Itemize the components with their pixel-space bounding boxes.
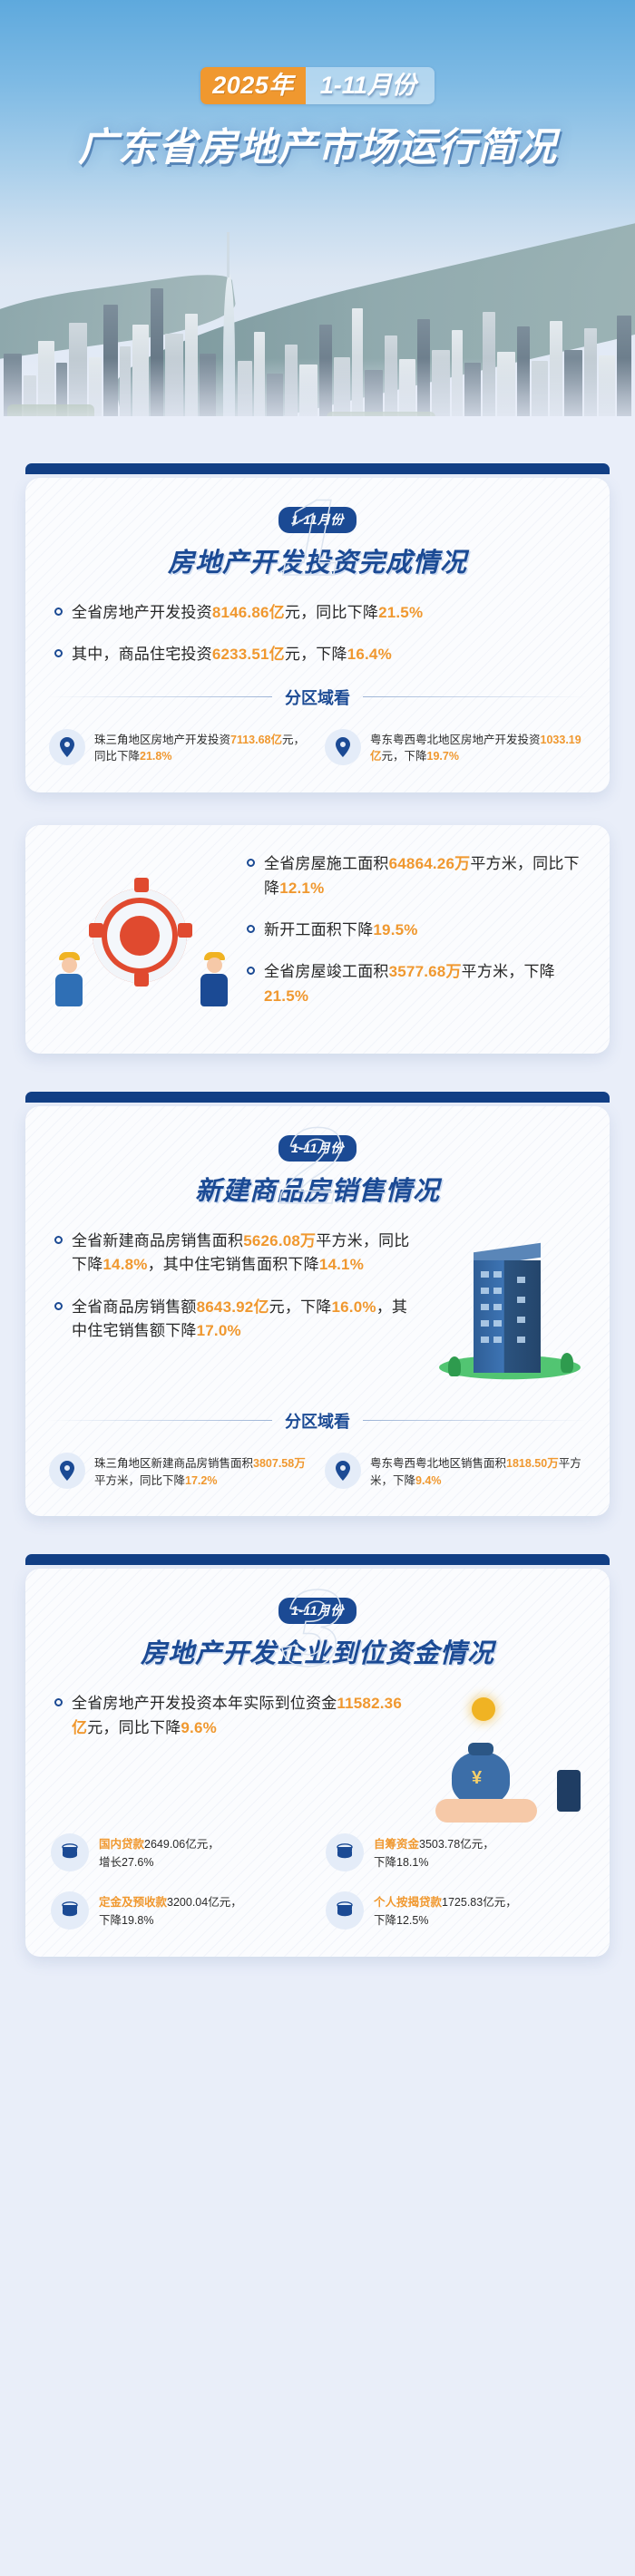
bullet-dot-icon [54,1302,63,1310]
bullet-item: 全省新建商品房销售面积5626.08万平方米，同比下降14.8%，其中住宅销售面… [53,1230,419,1278]
bullet-list-investment: 全省房地产开发投资8146.86亿元，同比下降21.5% 其中，商品住宅投资62… [47,601,588,667]
gear-icon [93,889,187,983]
fund-source-list: 国内贷款2649.06亿元，增长27.6% 自筹资金3503.78亿元，下降18… [47,1828,588,1930]
bullet-text: 全省房屋施工面积64864.26万平方米，同比下降12.1% [264,852,584,900]
fund-item: 国内贷款2649.06亿元，增长27.6% [51,1833,309,1871]
location-pin-icon [49,729,85,765]
region-item: 珠三角地区房地产开发投资7113.68亿元，同比下降21.8% [49,729,310,766]
fund-text: 国内贷款2649.06亿元，增长27.6% [99,1833,220,1871]
hero-banner: 2025年 1-11月份 广东省房地产市场运行简况 [0,0,635,458]
location-pin-icon [325,1453,361,1489]
page-title: 广东省房地产市场运行简况 [0,116,635,172]
bullet-dot-icon [54,649,63,657]
hero-period-tag: 1-11月份 [306,67,435,104]
coins-icon [326,1833,364,1871]
region-list-sales: 珠三角地区新建商品房销售面积3807.58万平方米，同比下降17.2% 粤东粤西… [47,1449,588,1490]
coins-icon [326,1891,364,1930]
bullet-list-funding: 全省房地产开发投资本年实际到位资金11582.36亿元，同比下降9.6% [47,1692,415,1758]
bullet-dot-icon [247,859,255,867]
bullet-item: 全省房屋施工面积64864.26万平方米，同比下降12.1% [245,852,584,900]
bullet-list-sales: 全省新建商品房销售面积5626.08万平方米，同比下降14.8%，其中住宅销售面… [47,1230,425,1361]
section-title-investment: 房地产开发投资完成情况 [47,541,588,579]
fund-change: 下降19.8% [99,1914,153,1927]
location-pin-icon [325,729,361,765]
fund-name: 自筹资金 [374,1838,419,1851]
lightbulb-icon [472,1697,495,1721]
card-sales: 2 1-11月份 新建商品房销售情况 全省新建商品房销售面积5626.08万平方… [25,1106,610,1517]
region-text: 粤东粤西粤北地区销售面积1818.50万平方米，下降9.4% [370,1453,586,1490]
card-construction: 全省房屋施工面积64864.26万平方米，同比下降12.1% 新开工面积下降19… [25,825,610,1054]
worker-figure-icon [194,952,234,1006]
card-topbar-investment [25,463,610,474]
bullet-text: 全省房屋竣工面积3577.68万平方米，下降21.5% [264,960,584,1008]
region-text: 珠三角地区房地产开发投资7113.68亿元，同比下降21.8% [94,729,310,766]
bullet-dot-icon [54,1236,63,1244]
region-item: 粤东粤西粤北地区房地产开发投资1033.19亿元，下降19.7% [325,729,586,766]
tree-icon [448,1356,461,1376]
hero-year-tag: 2025年 [200,67,306,104]
section-title-sales: 新建商品房销售情况 [47,1170,588,1208]
building-icon [474,1260,541,1373]
construction-illustration [45,858,236,1021]
bullet-item: 全省房地产开发投资本年实际到位资金11582.36亿元，同比下降9.6% [53,1692,410,1740]
section-pill-funding: 1-11月份 [278,1598,357,1624]
divider-line-right [363,1420,588,1421]
region-divider-label: 分区域看 [272,685,363,709]
hand-icon [435,1799,537,1823]
coins-icon [51,1833,89,1871]
money-illustration: ¥ [425,1692,588,1828]
region-divider-sales: 分区域看 [47,1409,588,1433]
region-text: 珠三角地区新建商品房销售面积3807.58万平方米，同比下降17.2% [94,1453,310,1490]
card-topbar-sales [25,1092,610,1103]
hero-tag-row: 2025年 1-11月份 [0,67,635,104]
fund-name: 定金及预收款 [99,1896,167,1909]
region-item: 珠三角地区新建商品房销售面积3807.58万平方米，同比下降17.2% [49,1453,310,1490]
bullet-item: 其中，商品住宅投资6233.51亿元，下降16.4% [53,643,582,666]
divider-line-left [47,1420,272,1421]
bullet-item: 新开工面积下降19.5% [245,919,584,942]
region-list-investment: 珠三角地区房地产开发投资7113.68亿元，同比下降21.8% 粤东粤西粤北地区… [47,725,588,766]
bullet-item: 全省房屋竣工面积3577.68万平方米，下降21.5% [245,960,584,1008]
fund-text: 个人按揭贷款1725.83亿元，下降12.5% [374,1891,517,1930]
bullet-dot-icon [247,967,255,975]
section-title-funding: 房地产开发企业到位资金情况 [47,1632,588,1670]
fund-item: 个人按揭贷款1725.83亿元，下降12.5% [326,1891,584,1930]
coins-icon [51,1891,89,1930]
building-illustration [434,1235,588,1396]
fund-value: 3503.78亿元， [419,1838,494,1851]
fund-name: 国内贷款 [99,1838,144,1851]
tree-icon [561,1353,573,1373]
section-pill-investment: 1-11月份 [278,507,357,533]
location-pin-icon [49,1453,85,1489]
worker-figure-icon [49,952,89,1006]
bullet-list-construction: 全省房屋施工面积64864.26万平方米，同比下降12.1% 新开工面积下降19… [241,852,590,1026]
fund-name: 个人按揭贷款 [374,1896,442,1909]
fund-change: 增长27.6% [99,1856,153,1869]
phone-icon [557,1770,581,1812]
bullet-item: 全省房地产开发投资8146.86亿元，同比下降21.5% [53,601,582,625]
hero-fade-solid [0,416,635,458]
divider-line-right [363,696,588,697]
bullet-dot-icon [54,1698,63,1706]
region-item: 粤东粤西粤北地区销售面积1818.50万平方米，下降9.4% [325,1453,586,1490]
card-funding: 3 1-11月份 房地产开发企业到位资金情况 全省房地产开发投资本年实际到位资金… [25,1569,610,1957]
infographic-page: 2025年 1-11月份 广东省房地产市场运行简况 1 1-11月份 房地产开发… [0,0,635,2576]
bullet-item: 全省商品房销售额8643.92亿元，下降16.0%，其中住宅销售额下降17.0% [53,1296,419,1344]
region-text: 粤东粤西粤北地区房地产开发投资1033.19亿元，下降19.7% [370,729,586,766]
card-investment: 1 1-11月份 房地产开发投资完成情况 全省房地产开发投资8146.86亿元，… [25,478,610,792]
bottom-spacer [0,1989,635,2044]
region-divider-label: 分区域看 [272,1409,363,1433]
fund-change: 下降12.5% [374,1914,428,1927]
fund-text: 定金及预收款3200.04亿元，下降19.8% [99,1891,242,1930]
section-pill-sales: 1-11月份 [278,1135,357,1162]
fund-value: 3200.04亿元， [167,1896,242,1909]
bullet-text: 全省新建商品房销售面积5626.08万平方米，同比下降14.8%，其中住宅销售面… [72,1230,419,1278]
fund-change: 下降18.1% [374,1856,428,1869]
bullet-dot-icon [54,608,63,616]
bullet-text: 其中，商品住宅投资6233.51亿元，下降16.4% [72,643,392,666]
fund-value: 2649.06亿元， [144,1838,220,1851]
bullet-text: 全省房地产开发投资8146.86亿元，同比下降21.5% [72,601,423,625]
fund-item: 自筹资金3503.78亿元，下降18.1% [326,1833,584,1871]
fund-item: 定金及预收款3200.04亿元，下降19.8% [51,1891,309,1930]
bullet-text: 全省商品房销售额8643.92亿元，下降16.0%，其中住宅销售额下降17.0% [72,1296,419,1344]
fund-text: 自筹资金3503.78亿元，下降18.1% [374,1833,494,1871]
bullet-text: 新开工面积下降19.5% [264,919,418,942]
card-topbar-funding [25,1554,610,1565]
divider-line-left [47,696,272,697]
region-divider-investment: 分区域看 [47,685,588,709]
money-bag-icon: ¥ [452,1752,510,1804]
bullet-dot-icon [247,925,255,933]
bullet-text: 全省房地产开发投资本年实际到位资金11582.36亿元，同比下降9.6% [72,1692,410,1740]
fund-value: 1725.83亿元， [442,1896,517,1909]
